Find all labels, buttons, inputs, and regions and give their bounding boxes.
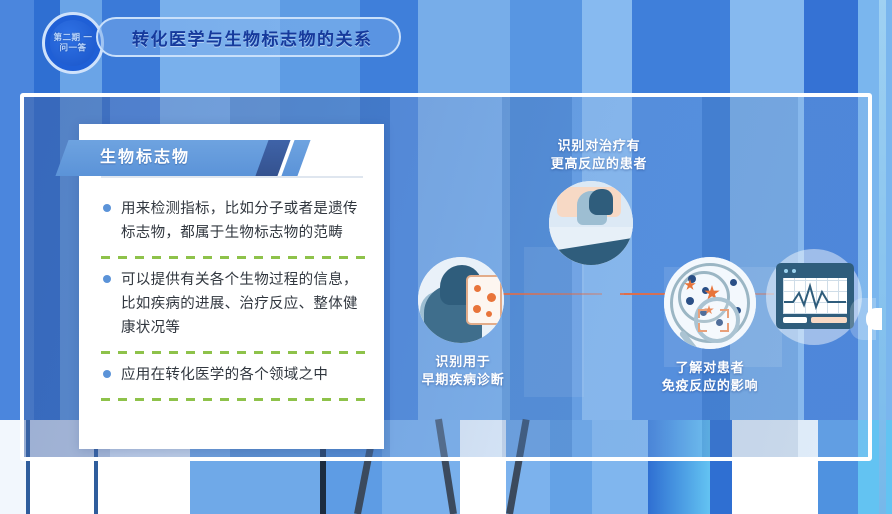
patient-in-bed-icon <box>549 181 633 265</box>
patient-hair-shape <box>589 189 613 215</box>
monitor-led <box>784 269 788 273</box>
monitor-led <box>792 269 796 273</box>
node-early-diagnosis[interactable]: 识别用于 早期疾病诊断 <box>404 257 524 397</box>
ecg-monitor-icon <box>776 263 854 329</box>
monitor-button <box>783 317 807 323</box>
cell-dot <box>686 297 694 305</box>
logo-badge[interactable]: 第二期 一问一答 <box>42 12 104 74</box>
focus-bracket <box>698 323 707 332</box>
card-title: 生物标志物 <box>100 140 190 176</box>
molecule-dot <box>487 293 496 302</box>
right-nav-knob-icon[interactable] <box>866 308 882 330</box>
node-caption: 识别用于 早期疾病诊断 <box>383 353 543 389</box>
focus-bracket <box>720 309 729 318</box>
logo-text: 第二期 一问一答 <box>51 33 95 54</box>
page-title-pill: 转化医学与生物标志物的关系 <box>96 17 401 57</box>
page-header: 第二期 一问一答 转化医学与生物标志物的关系 <box>0 0 892 86</box>
page-title: 转化医学与生物标志物的关系 <box>132 25 373 50</box>
monitor-button <box>811 317 847 323</box>
ecg-waveform-icon <box>783 278 847 314</box>
magnifier-icon <box>694 297 740 343</box>
logo-inner-circle: 第二期 一问一答 <box>50 20 96 66</box>
right-rail <box>879 0 886 514</box>
molecule-dot <box>474 285 481 292</box>
content-frame: 生物标志物 用来检测指标，比如分子或者是遗传标志物，都属于生物标志物的范畴 可以… <box>20 93 872 461</box>
node-treatment-response[interactable]: 识别对治疗有 更高反应的患者 <box>529 137 659 297</box>
focus-bracket <box>698 309 707 318</box>
focus-bracket <box>720 323 729 332</box>
monitor-screen <box>783 278 847 314</box>
molecule-dot <box>486 311 492 317</box>
cell-dot <box>730 279 737 286</box>
head-scan-icon <box>418 257 504 343</box>
node-caption: 识别对治疗有 更高反应的患者 <box>519 137 679 173</box>
scan-device-icon <box>466 275 502 325</box>
molecule-dot <box>473 305 481 313</box>
cell-dish-magnifier-icon <box>664 257 756 349</box>
